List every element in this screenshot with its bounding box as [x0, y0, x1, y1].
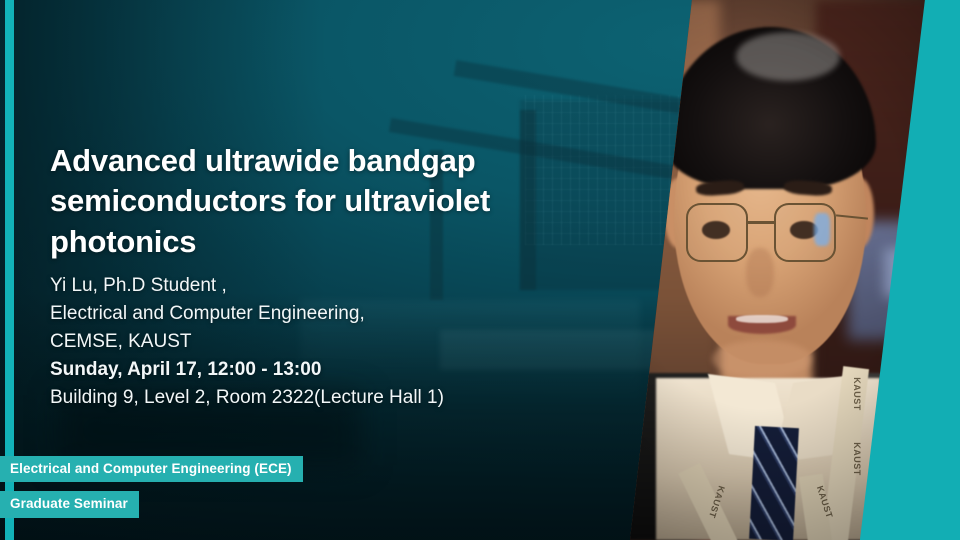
badge-row-department: Electrical and Computer Engineering (ECE… — [0, 456, 303, 483]
detail-location: Building 9, Level 2, Room 2322(Lecture H… — [50, 384, 570, 412]
seminar-details: Yi Lu, Ph.D Student , Electrical and Com… — [50, 272, 570, 412]
detail-affiliation: CEMSE, KAUST — [50, 328, 570, 356]
badge-row-series: Graduate Seminar — [0, 491, 303, 518]
badge-department[interactable]: Electrical and Computer Engineering (ECE… — [0, 456, 303, 483]
seminar-banner: KAUST KAUST KAUST KAUST Advanced ultrawi… — [0, 0, 960, 540]
badge-group: Electrical and Computer Engineering (ECE… — [0, 456, 303, 518]
detail-department: Electrical and Computer Engineering, — [50, 300, 570, 328]
detail-datetime: Sunday, April 17, 12:00 - 13:00 — [50, 356, 570, 384]
badge-series[interactable]: Graduate Seminar — [0, 491, 139, 518]
detail-speaker: Yi Lu, Ph.D Student , — [50, 272, 570, 300]
seminar-title: Advanced ultrawide bandgap semiconductor… — [50, 141, 550, 262]
